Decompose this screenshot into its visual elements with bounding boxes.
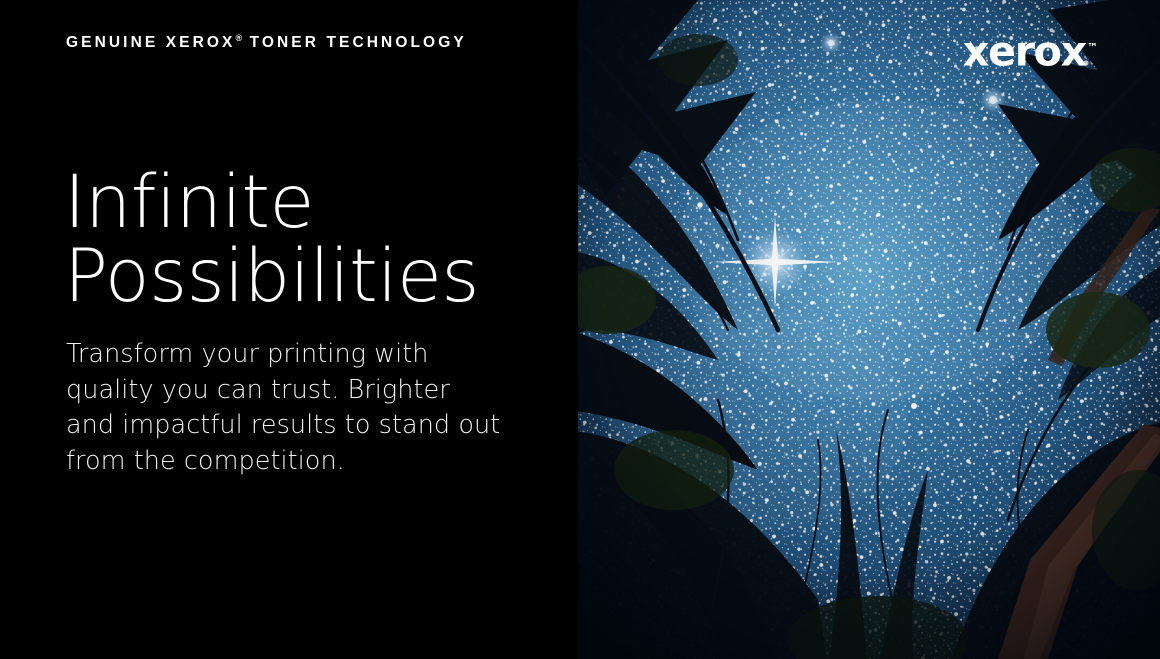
xerox-logo[interactable]: xerox™: [963, 27, 1098, 73]
marketing-banner: GENUINE XEROX® TONER TECHNOLOGY Infinite…: [0, 0, 1160, 659]
headline-line-2: Possibilities: [64, 240, 479, 314]
registered-trademark-symbol: ®: [236, 33, 243, 43]
forest-canopy-illustration: [578, 0, 1160, 659]
eyebrow-prefix: GENUINE XEROX: [66, 34, 236, 51]
eyebrow-text: GENUINE XEROX® TONER TECHNOLOGY: [66, 33, 467, 52]
headline-line-1: Infinite: [64, 166, 479, 240]
trademark-symbol: ™: [1087, 41, 1098, 54]
page-title: Infinite Possibilities: [64, 166, 479, 314]
subcopy-text: Transform your printing with quality you…: [66, 337, 506, 479]
eyebrow-suffix: TONER TECHNOLOGY: [250, 34, 467, 51]
xerox-wordmark: xerox: [963, 28, 1086, 76]
copy-panel: GENUINE XEROX® TONER TECHNOLOGY Infinite…: [0, 0, 578, 659]
night-sky-photo: xerox™: [578, 0, 1160, 659]
